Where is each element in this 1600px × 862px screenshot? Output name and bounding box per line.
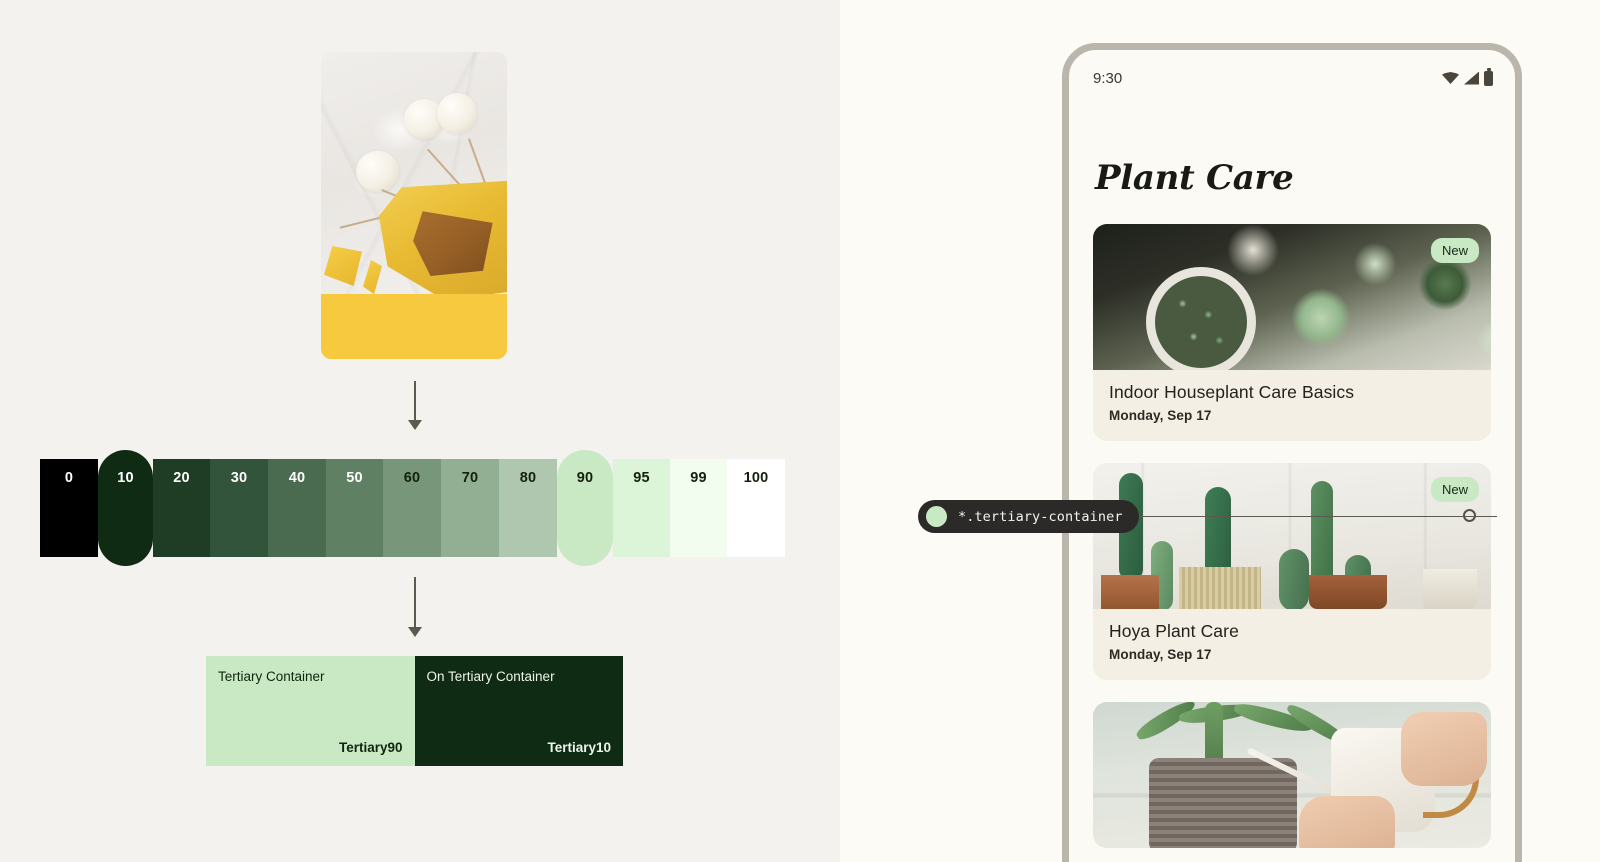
card-body: Indoor Houseplant Care Basics Monday, Se…	[1093, 370, 1491, 441]
tone-label: 20	[173, 470, 190, 557]
planter-shape	[1423, 569, 1477, 609]
stem-shape	[468, 138, 486, 184]
dried-flower-icon	[356, 151, 399, 192]
planter-shape	[1101, 575, 1159, 609]
tone-swatch-20[interactable]: 20	[153, 459, 210, 557]
status-time: 9:30	[1093, 70, 1122, 87]
tonal-palette-row: 01020304050607080909599100	[40, 459, 785, 557]
status-bar: 9:30	[1069, 50, 1515, 106]
inspector-target-handle[interactable]	[1463, 509, 1476, 522]
planter-shape	[1149, 758, 1297, 848]
tone-swatch-50[interactable]: 50	[326, 459, 383, 557]
color-role-name: Tertiary Container	[218, 669, 403, 684]
article-card[interactable]: New Indoor Houseplant Care Basics Monday…	[1093, 224, 1491, 441]
article-card[interactable]	[1093, 702, 1491, 848]
tone-label: 0	[65, 470, 73, 557]
status-badge[interactable]: New	[1431, 477, 1479, 502]
tone-swatch-0[interactable]: 0	[40, 459, 98, 557]
dried-flower-icon	[437, 93, 477, 134]
card-media	[1093, 702, 1491, 848]
color-role-tone: Tertiary10	[547, 740, 611, 755]
tone-swatch-99[interactable]: 99	[670, 459, 727, 557]
tone-swatch-10[interactable]: 10	[98, 450, 153, 566]
source-photo	[321, 52, 507, 294]
inspector-tooltip[interactable]: *.tertiary-container	[918, 500, 1139, 533]
tone-label: 100	[744, 470, 769, 557]
tone-label: 10	[117, 470, 134, 566]
color-role-tile[interactable]: Tertiary ContainerTertiary90	[206, 656, 415, 766]
tone-swatch-70[interactable]: 70	[441, 459, 499, 557]
signal-icon	[1464, 72, 1479, 85]
watering-plant-photo	[1093, 702, 1491, 848]
color-role-tone: Tertiary90	[339, 740, 403, 755]
card-date: Monday, Sep 17	[1109, 647, 1475, 662]
down-arrow-icon	[403, 381, 427, 430]
card-date: Monday, Sep 17	[1109, 408, 1475, 423]
tone-label: 80	[520, 470, 537, 557]
color-role-name: On Tertiary Container	[427, 669, 612, 684]
card-media: New	[1093, 463, 1491, 609]
tonal-palette-panel: 01020304050607080909599100 Tertiary Cont…	[0, 0, 840, 862]
tooltip-color-swatch	[926, 506, 947, 527]
card-media: New	[1093, 224, 1491, 370]
tone-label: 40	[289, 470, 306, 557]
status-badge[interactable]: New	[1431, 238, 1479, 263]
yellow-chip-shape	[363, 260, 382, 294]
phone-mockup: 9:30 Plant Care New Indoor Houseplant Ca…	[1062, 43, 1522, 862]
tone-swatch-60[interactable]: 60	[383, 459, 441, 557]
tone-label: 99	[690, 470, 707, 557]
wifi-icon	[1442, 72, 1459, 84]
tone-swatch-95[interactable]: 95	[613, 459, 670, 557]
card-body: Hoya Plant Care Monday, Sep 17	[1093, 609, 1491, 680]
article-card[interactable]: New Hoya Plant Care Monday, Sep 17	[1093, 463, 1491, 680]
tone-label: 70	[462, 470, 479, 557]
tone-label: 90	[577, 470, 594, 566]
yellow-chip-shape	[324, 246, 362, 286]
down-arrow-icon	[403, 577, 427, 637]
cactus-shape	[1279, 549, 1309, 609]
tone-swatch-90[interactable]: 90	[557, 450, 613, 566]
amber-crystal-shape	[379, 180, 507, 300]
planter-shape	[1309, 575, 1387, 609]
tooltip-label: *.tertiary-container	[958, 509, 1123, 525]
tone-label: 95	[633, 470, 650, 557]
inspector-connector-line	[1105, 516, 1497, 517]
hand-shape	[1401, 712, 1487, 786]
source-image-card[interactable]	[321, 52, 507, 359]
tone-swatch-40[interactable]: 40	[268, 459, 326, 557]
tone-swatch-80[interactable]: 80	[499, 459, 557, 557]
source-extracted-swatch	[321, 294, 507, 359]
tone-label: 50	[346, 470, 363, 557]
tone-swatch-30[interactable]: 30	[210, 459, 268, 557]
page-title: Plant Care	[1069, 106, 1515, 198]
tone-label: 60	[404, 470, 421, 557]
color-role-tile[interactable]: On Tertiary ContainerTertiary10	[415, 656, 624, 766]
leaf-shape	[1134, 702, 1198, 744]
hand-shape	[1299, 796, 1395, 848]
device-preview-panel: 9:30 Plant Care New Indoor Houseplant Ca…	[840, 0, 1600, 862]
card-title: Hoya Plant Care	[1109, 621, 1475, 642]
status-icons	[1442, 71, 1493, 86]
color-role-row: Tertiary ContainerTertiary90On Tertiary …	[206, 656, 623, 766]
planter-shape	[1179, 567, 1261, 609]
tone-label: 30	[231, 470, 248, 557]
battery-icon	[1484, 71, 1493, 86]
tone-swatch-100[interactable]: 100	[727, 459, 785, 557]
card-title: Indoor Houseplant Care Basics	[1109, 382, 1475, 403]
